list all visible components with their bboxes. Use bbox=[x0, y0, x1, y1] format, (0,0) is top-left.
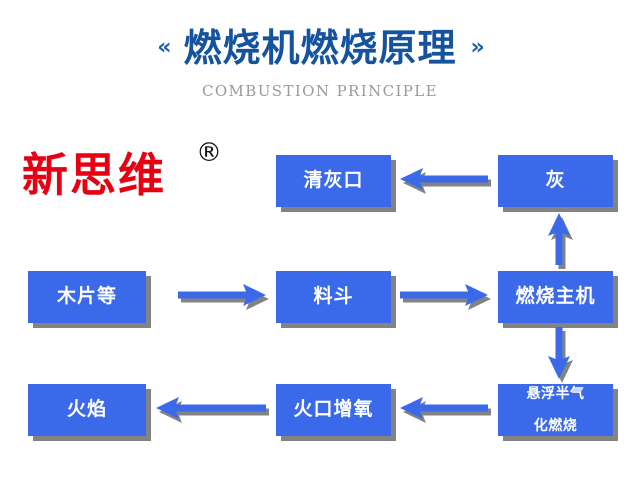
flow-node-label: 化燃烧 bbox=[534, 418, 578, 434]
flow-node-huoyan: 火焰 bbox=[28, 384, 146, 436]
registered-trademark-icon: ® bbox=[196, 140, 222, 166]
flow-node-zengyang: 火口增氧 bbox=[276, 384, 391, 436]
flow-node-liaodou: 料斗 bbox=[276, 271, 391, 323]
flow-arrow-zengyang-to-huoyan bbox=[156, 397, 266, 419]
flow-arrow-liaodou-to-zhuji bbox=[400, 284, 488, 306]
flow-arrow-xuanfu-to-zengyang bbox=[400, 397, 488, 419]
brand-logo: 新思维 ® bbox=[22, 140, 242, 212]
chevron-right-icon: » bbox=[471, 37, 483, 59]
flow-arrow-mupian-to-liaodou bbox=[178, 284, 266, 306]
brand-name: 新思维 bbox=[22, 152, 166, 198]
flow-node-label: 悬浮半气 bbox=[527, 386, 585, 402]
flow-node-qinghuikou: 清灰口 bbox=[276, 155, 391, 207]
flow-node-label: 火焰 bbox=[67, 399, 107, 421]
flow-node-mupian: 木片等 bbox=[28, 271, 146, 323]
flow-node-zhuji: 燃烧主机 bbox=[498, 271, 613, 323]
page-title: 燃烧机燃烧原理 bbox=[183, 29, 456, 67]
flow-node-label: 燃烧主机 bbox=[515, 286, 595, 308]
flow-arrow-zhuji-to-hui bbox=[548, 213, 570, 265]
flow-node-label: 木片等 bbox=[57, 286, 117, 308]
chevron-left-icon: « bbox=[157, 37, 169, 59]
page-subtitle: COMBUSTION PRINCIPLE bbox=[0, 82, 640, 100]
flow-node-hui: 灰 bbox=[498, 155, 613, 207]
flow-node-label: 料斗 bbox=[313, 286, 353, 308]
flow-arrow-hui-to-qinghuikou bbox=[400, 168, 488, 190]
slide-canvas: « 燃烧机燃烧原理 » COMBUSTION PRINCIPLE 新思维 ® 清… bbox=[0, 0, 640, 491]
header: « 燃烧机燃烧原理 » COMBUSTION PRINCIPLE bbox=[0, 0, 640, 120]
flow-node-label: 灰 bbox=[545, 170, 565, 192]
title-row: « 燃烧机燃烧原理 » bbox=[0, 24, 640, 72]
flow-node-xuanfu: 悬浮半气化燃烧 bbox=[498, 384, 613, 436]
flow-arrow-zhuji-to-xuanfu bbox=[548, 327, 570, 379]
flow-node-label: 清灰口 bbox=[303, 170, 363, 192]
flow-node-label: 火口增氧 bbox=[293, 399, 373, 421]
